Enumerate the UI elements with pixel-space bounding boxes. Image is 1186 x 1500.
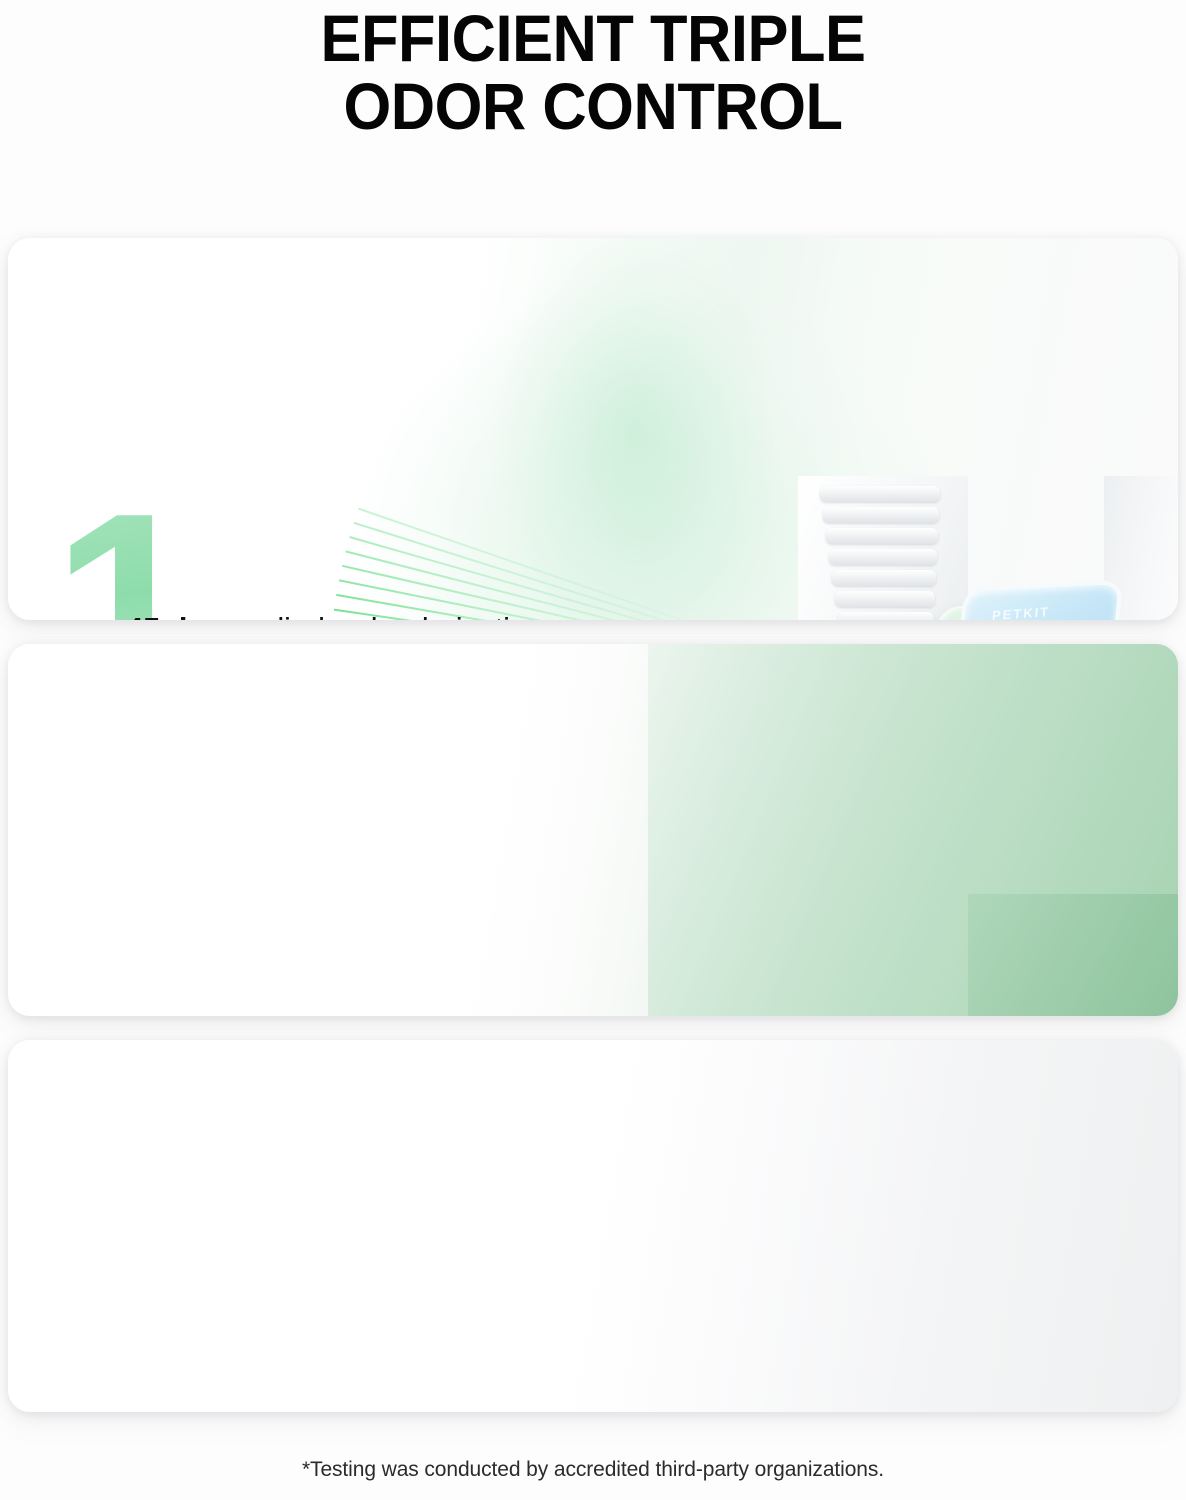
card-1-text: 45 days cylinder deodorization with smar… <box>126 608 606 620</box>
bin-green-wall-lower <box>968 894 1178 1016</box>
photo-background <box>8 1040 1178 1412</box>
page-title-line-1: EFFICIENT TRIPLE <box>42 4 1145 72</box>
fragrance-haze <box>438 238 768 620</box>
page-title-line-2: ODOR CONTROL <box>42 72 1145 140</box>
feature-card-1: PETKIT 1 45 days cylinder deodorization … <box>8 238 1178 620</box>
litter-box-ridge <box>832 570 936 586</box>
feature-card-3: 3 Odor-trappingsealed waste bin <box>8 1040 1178 1412</box>
deodorizer-cartridge: PETKIT <box>936 584 1116 620</box>
feature-card-2: PETKIT 2 98%* ammonia neutralization for… <box>8 644 1178 1016</box>
litter-box-ridge <box>826 528 938 544</box>
feature-3-photo <box>8 1040 1178 1412</box>
litter-box-ridge <box>835 591 935 607</box>
card-1-bold-lead: 45 days <box>126 611 238 620</box>
page-title: EFFICIENT TRIPLE ODOR CONTROL <box>42 4 1145 140</box>
footnote-disclaimer: *Testing was conducted by accredited thi… <box>0 1458 1186 1482</box>
card-1-number: 1 <box>52 474 202 620</box>
litter-box-ridge <box>823 507 939 523</box>
litter-box-ridge <box>838 612 934 620</box>
litter-box-ridge <box>820 486 940 502</box>
feature-2-photo: PETKIT <box>8 644 1178 1016</box>
litter-box-ridge <box>829 549 937 565</box>
litter-box-ridges <box>820 486 940 620</box>
